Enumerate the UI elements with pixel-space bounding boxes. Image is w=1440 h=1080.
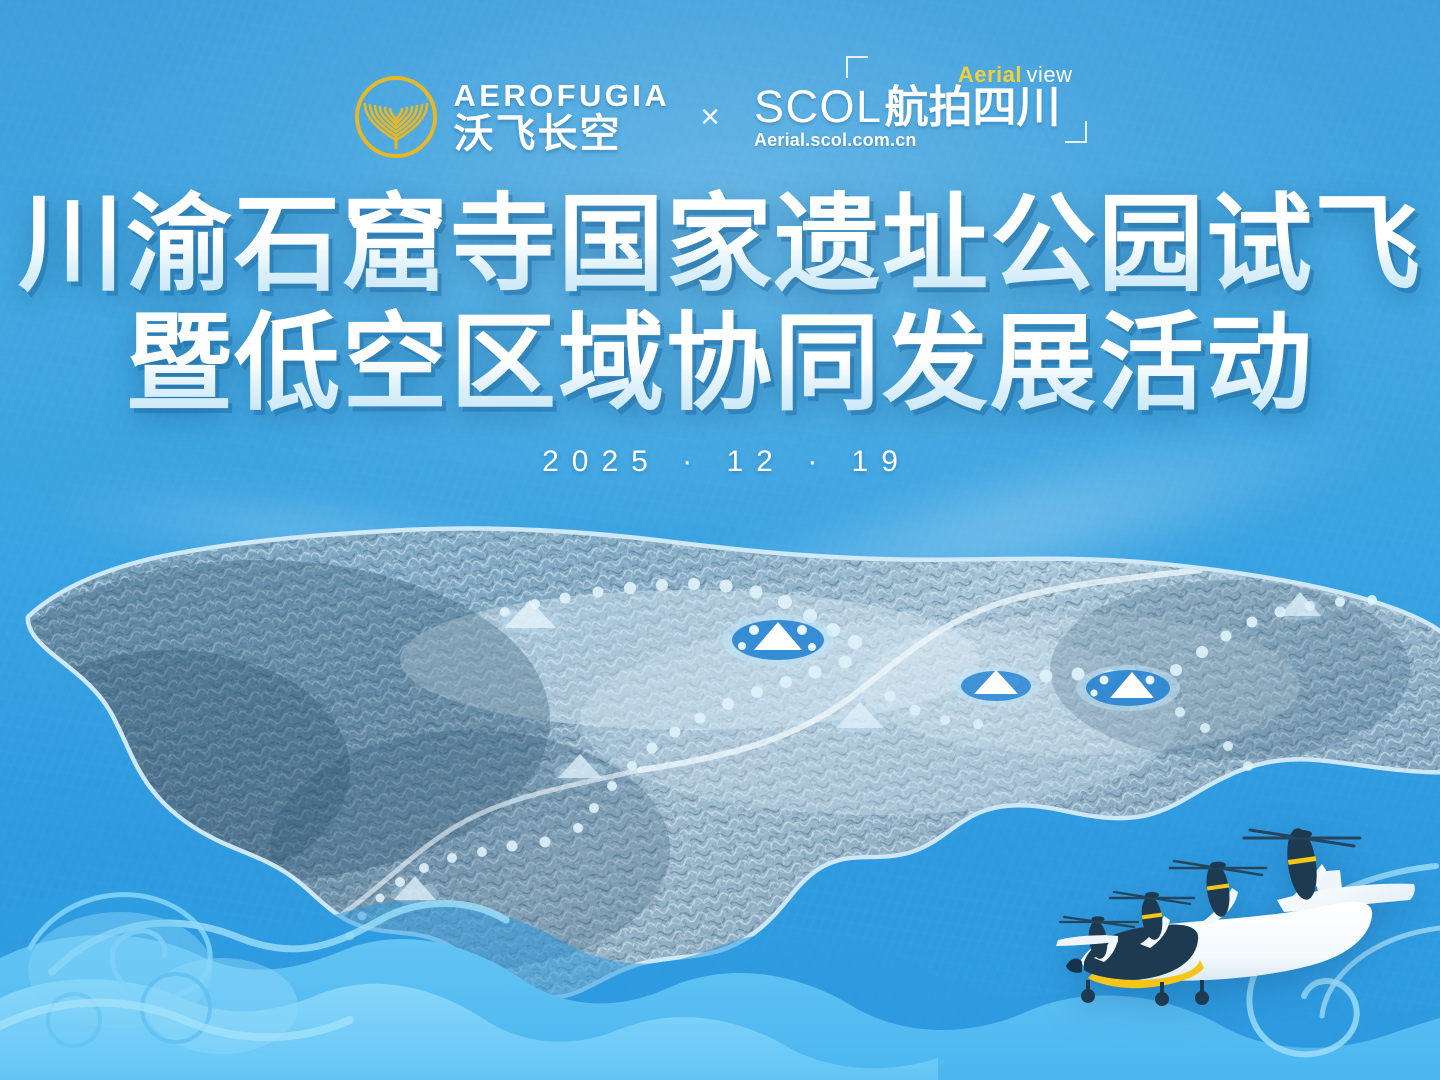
poster-canvas: AEROFUGIA 沃飞长空 × Aerial view SCOL 航拍四川 A… <box>0 0 1440 1080</box>
title-line-2: 暨低空区域协同发展活动 <box>0 305 1440 424</box>
map-marker-hub <box>952 666 1040 706</box>
evtol-aircraft <box>1022 812 1422 1062</box>
brand-aerofugia[interactable]: AEROFUGIA 沃飞长空 <box>353 74 670 160</box>
scol-tagline-rest: view <box>1026 62 1072 87</box>
brand-separator-x-icon: × <box>696 100 724 134</box>
title-line-1: 川渝石窟寺国家遗址公园试飞 <box>0 186 1440 305</box>
scol-tagline-highlight: Aerial <box>958 62 1022 87</box>
map-marker-hub <box>1076 665 1180 711</box>
aerofugia-circle-wing-logo <box>353 74 439 160</box>
map-marker-hub <box>722 614 834 666</box>
corner-bracket-top-left-icon <box>846 56 868 78</box>
title-block: 川渝石窟寺国家遗址公园试飞 暨低空区域协同发展活动 2025 · 12 · 19 <box>0 186 1440 479</box>
scol-tagline: Aerial view <box>958 64 1073 86</box>
rotor-3 <box>1170 861 1266 924</box>
event-date: 2025 · 12 · 19 <box>0 445 1440 479</box>
scol-name-en: SCOL <box>754 84 883 129</box>
brand-scol[interactable]: Aerial view SCOL 航拍四川 Aerial.scol.com.cn <box>750 80 1087 155</box>
aerofugia-name-cn: 沃飞长空 <box>453 113 670 155</box>
scol-url: Aerial.scol.com.cn <box>754 130 917 150</box>
scol-name-cn: 航拍四川 <box>885 86 1061 130</box>
aerofugia-name-en: AEROFUGIA <box>453 80 670 111</box>
logo-bar: AEROFUGIA 沃飞长空 × Aerial view SCOL 航拍四川 A… <box>0 62 1440 172</box>
corner-bracket-bottom-right-icon <box>1065 121 1087 143</box>
